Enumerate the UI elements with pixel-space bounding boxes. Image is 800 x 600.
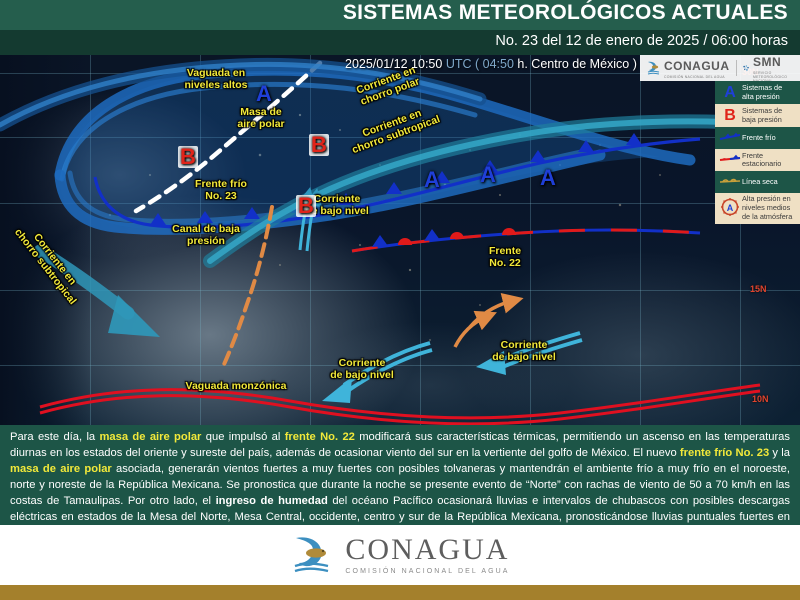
stationary-front-22	[352, 228, 700, 251]
summary-text: y la	[769, 447, 790, 459]
high-pressure-symbol: A	[256, 81, 272, 107]
conagua-footer-tagline: COMISIÓN NACIONAL DEL AGUA	[345, 568, 509, 575]
low-level-current-center	[322, 343, 432, 403]
conagua-eagle-icon	[646, 60, 661, 76]
summary-text: que impulsó al	[201, 431, 284, 443]
stationary-front-icon	[718, 154, 742, 167]
timestamp-local: h. Centro de México )	[517, 57, 637, 71]
cold-front-icon	[718, 132, 742, 145]
low-pressure-symbol: B	[296, 195, 316, 217]
high-pressure-symbol: A	[424, 167, 440, 193]
high-pressure-icon: A	[718, 83, 742, 102]
legend-item-cold-front: Frente frío	[715, 127, 800, 149]
legend-item-dry-line: Línea seca	[715, 171, 800, 193]
conagua-wordmark: CONAGUA	[664, 59, 730, 73]
summary-text: Para este día, la	[10, 431, 99, 443]
weather-systems-overlay	[0, 55, 800, 425]
coord-mark: 15N	[750, 284, 767, 294]
legend-item-stationary-front: Frente estacionario	[715, 149, 800, 171]
summary-emphasis: ingreso de humedad	[216, 495, 328, 507]
legend-label: Alta presión en niveles medios de la atm…	[742, 195, 797, 221]
monsoon-trough	[40, 385, 760, 424]
summary-emphasis: frente frío No. 23	[680, 447, 769, 459]
map-logo-strip: CONAGUA COMISIÓN NACIONAL DEL AGUA SMN S…	[640, 55, 800, 81]
high-pressure-symbol: A	[540, 165, 556, 191]
svg-text:A: A	[727, 203, 734, 213]
legend-item-high-pressure: A Sistemas de alta presión	[715, 81, 800, 104]
forecast-summary-text: Para este día, la masa de aire polar que…	[0, 425, 800, 525]
summary-emphasis: masa de aire polar	[10, 463, 112, 475]
legend-label: Sistemas de alta presión	[742, 84, 797, 102]
bulletin-number-date: No. 23 del 12 de enero de 2025 / 06:00 h…	[495, 33, 788, 49]
coord-mark: 10N	[752, 394, 769, 404]
high-pressure-symbol: A	[480, 162, 496, 188]
conagua-footer-logo: CONAGUA COMISIÓN NACIONAL DEL AGUA	[290, 532, 509, 578]
page-title: SISTEMAS METEOROLÓGICOS ACTUALES	[343, 1, 788, 25]
low-pressure-symbol: B	[178, 146, 198, 168]
map-legend: A Sistemas de alta presión B Sistemas de…	[715, 81, 800, 224]
low-pressure-symbol: B	[309, 134, 329, 156]
timestamp-utc: UTC ( 04:50	[446, 57, 514, 71]
polar-air-mass-band	[60, 70, 690, 229]
low-pressure-icon: B	[718, 106, 742, 125]
smn-wordmark: SMN	[753, 55, 781, 69]
conagua-logo: CONAGUA COMISIÓN NACIONAL DEL AGUA	[646, 57, 730, 79]
conagua-tagline: COMISIÓN NACIONAL DEL AGUA	[664, 75, 730, 79]
footer-logo-bar: CONAGUA COMISIÓN NACIONAL DEL AGUA	[0, 525, 800, 585]
summary-emphasis: masa de aire polar	[99, 431, 201, 443]
low-level-current-right	[476, 333, 582, 375]
timestamp-main: 2025/01/12 10:50	[345, 57, 442, 71]
footer-gold-band	[0, 585, 800, 600]
legend-label: Sistemas de baja presión	[742, 107, 797, 125]
conagua-eagle-water-icon	[290, 532, 336, 578]
summary-body: Para este día, la masa de aire polar que…	[10, 431, 790, 538]
mid-level-high-icon: A	[718, 197, 742, 220]
satellite-weather-map[interactable]: 30N 25N 20N 15N 10N Vaguada en niveles a…	[0, 55, 800, 425]
legend-item-low-pressure: B Sistemas de baja presión	[715, 104, 800, 127]
smn-logo: SMN SERVICIO METEOROLÓGICO NACIONAL	[742, 55, 794, 83]
summary-emphasis: frente No. 22	[285, 431, 355, 443]
smn-swirl-icon	[742, 61, 750, 76]
legend-label: Frente estacionario	[742, 152, 797, 170]
legend-item-mid-level-high: A Alta presión en niveles medios de la a…	[715, 193, 800, 223]
conagua-footer-wordmark: CONAGUA	[345, 535, 509, 565]
map-timestamp: 2025/01/12 10:50 UTC ( 04:50 h. Centro d…	[345, 57, 637, 71]
legend-label: Frente frío	[742, 134, 797, 143]
legend-label: Línea seca	[742, 178, 797, 187]
dry-line-icon	[718, 176, 742, 189]
low-level-arcs-orange	[455, 301, 512, 347]
weather-bulletin-page: SISTEMAS METEOROLÓGICOS ACTUALES No. 23 …	[0, 0, 800, 600]
